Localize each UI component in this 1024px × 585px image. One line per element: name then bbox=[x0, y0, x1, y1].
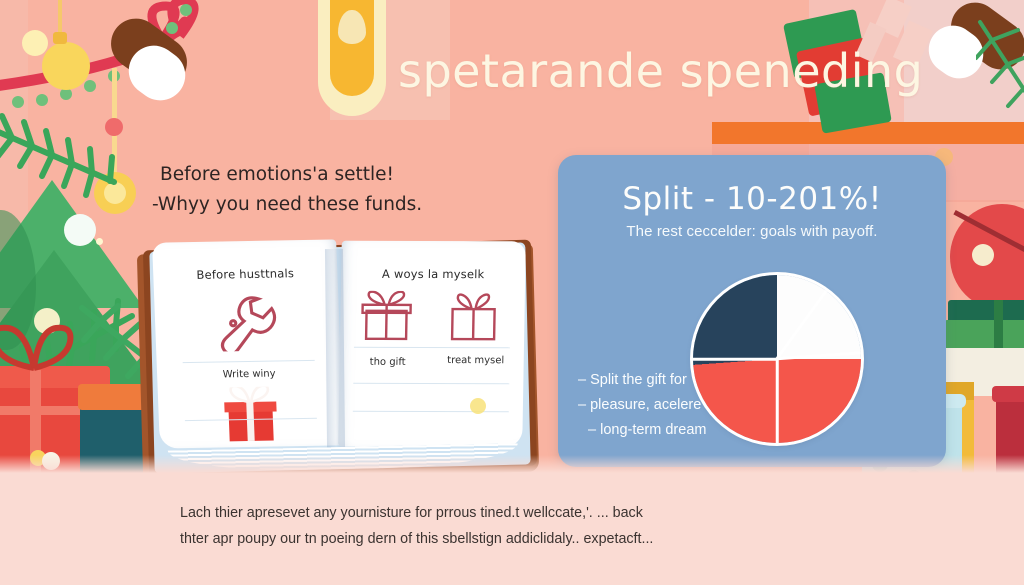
lede-text: Before emotions'a settle! -Whyy you need… bbox=[160, 160, 500, 220]
split-panel: Split - 10-201%! The rest ceccelder: goa… bbox=[558, 155, 946, 467]
gift-outline-icon bbox=[358, 291, 417, 343]
rule-line bbox=[354, 347, 510, 349]
green-gift-box-ribbon bbox=[994, 300, 1003, 354]
page-title: spetarande speneding bbox=[398, 44, 923, 98]
right-page-caption-1: tho gift bbox=[352, 357, 424, 368]
bottom-caption: Lach thier apresevet any yournisture for… bbox=[180, 500, 860, 552]
wrench-icon bbox=[206, 292, 280, 351]
panel-subtitle: The rest ceccelder: goals with payoff. bbox=[558, 223, 946, 240]
bottom-band-fade bbox=[0, 455, 1024, 473]
right-page-heading: A woys la myselk bbox=[341, 267, 525, 282]
left-page-heading: Before husttnals bbox=[153, 265, 338, 282]
bullet-item: – long-term dream bbox=[578, 418, 778, 443]
bullet-item: – Split the gift for bbox=[578, 368, 778, 393]
dark-red-box-lid bbox=[992, 386, 1024, 402]
gift-bow-icon bbox=[0, 322, 86, 372]
bullet-item: – pleasure, acelere bbox=[578, 393, 778, 418]
ornament-dot bbox=[972, 244, 994, 266]
pine-branch-topright bbox=[976, 18, 1024, 128]
pie-slice-divider bbox=[693, 358, 777, 361]
panel-bullet-list: – Split the gift for – pleasure, acelere… bbox=[578, 368, 778, 443]
rule-line bbox=[353, 383, 509, 385]
notebook-right-page: A woys la myselk tho gif bbox=[338, 241, 526, 448]
lede-line-2: -Whyy you need these funds. bbox=[152, 190, 500, 220]
yellow-bauble bbox=[42, 42, 90, 90]
panel-title: Split - 10-201%! bbox=[558, 181, 946, 217]
ornament-cap-1 bbox=[53, 32, 67, 44]
gift-outline-icon bbox=[444, 289, 503, 341]
poster-canvas: Before husttnals Write winy A woys la bbox=[0, 0, 1024, 585]
caption-line-1: Lach thier apresevet any yournisture for… bbox=[180, 500, 860, 526]
filled-gift-icon bbox=[220, 386, 284, 445]
right-page-caption-2: treat mysel bbox=[436, 355, 516, 366]
left-page-caption: Write winy bbox=[157, 367, 341, 381]
rule-line bbox=[183, 360, 315, 363]
caption-line-2: thter apr poupy our tn poeing dern of th… bbox=[180, 526, 860, 552]
rule-line bbox=[353, 411, 509, 413]
lede-line-1: Before emotions'a settle! bbox=[160, 160, 500, 190]
book-page-dot bbox=[470, 398, 486, 414]
open-notebook: Before husttnals Write winy A woys la bbox=[128, 235, 548, 480]
notebook-left-page: Before husttnals Write winy bbox=[152, 239, 344, 448]
bauble-highlight bbox=[22, 30, 48, 56]
book-spine bbox=[325, 249, 345, 449]
